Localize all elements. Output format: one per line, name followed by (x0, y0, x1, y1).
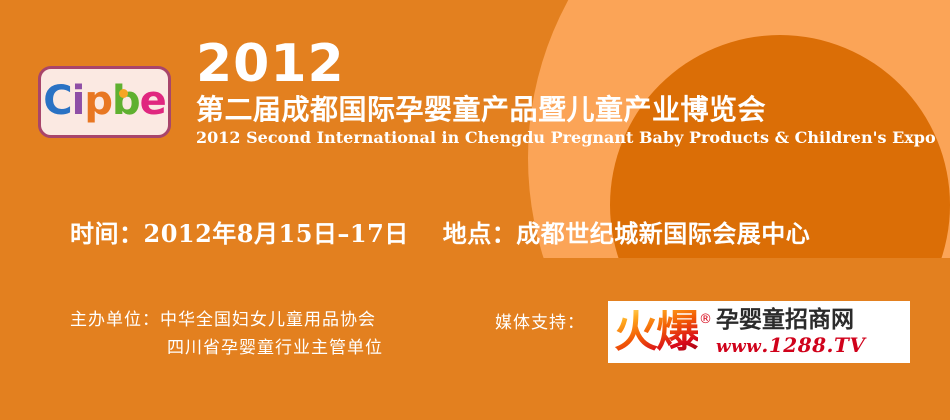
time-value: 2012年8月15日–17日 (144, 219, 409, 248)
organizer-line-1: 中华全国妇女儿童用品协会 (160, 310, 376, 330)
event-year: 2012 (196, 38, 936, 90)
media-partner-logo[interactable]: 火爆 ® 孕婴童招商网 www.1288.TV (608, 301, 910, 363)
registered-trademark-icon: ® (699, 312, 712, 327)
media-url-www: www (716, 337, 761, 357)
flame-mark-wrap: 火爆 ® (614, 310, 712, 354)
logo-dot-accent (119, 89, 128, 98)
cipbe-logo-wordmark: Cipbe (43, 81, 166, 121)
media-logo-chinese: 孕婴童招商网 (716, 308, 865, 332)
organizer-label: 主办单位： (70, 310, 160, 330)
organizer-line-2: 四川省孕婴童行业主管单位 (70, 334, 383, 362)
event-title-english: 2012 Second International in Chengdu Pre… (196, 129, 936, 147)
logo-letter-p: p (84, 81, 112, 121)
event-meta-line: 时间：2012年8月15日–17日地点：成都世纪城新国际会展中心 (70, 214, 810, 249)
header-block: 2012 第二届成都国际孕婴童产品暨儿童产业博览会 2012 Second In… (196, 38, 936, 148)
logo-letter-b: b (112, 81, 140, 121)
logo-letter-c: C (43, 81, 71, 121)
logo-letter-i: i (72, 81, 85, 121)
place-label: 地点： (443, 219, 517, 248)
event-title-chinese: 第二届成都国际孕婴童产品暨儿童产业博览会 (196, 94, 936, 126)
organizer-block: 主办单位：中华全国妇女儿童用品协会 四川省孕婴童行业主管单位 (70, 306, 383, 362)
media-support-label: 媒体支持： (495, 308, 585, 333)
media-url-rest: .1288.TV (761, 333, 865, 357)
cipbe-logo[interactable]: Cipbe (38, 66, 171, 138)
time-label: 时间： (70, 219, 144, 248)
place-value: 成都世纪城新国际会展中心 (516, 219, 810, 248)
media-logo-url[interactable]: www.1288.TV (716, 335, 865, 356)
flame-mark-icon: 火爆 (614, 310, 698, 354)
event-banner: Cipbe 2012 第二届成都国际孕婴童产品暨儿童产业博览会 2012 Sec… (0, 0, 950, 420)
media-logo-text: 孕婴童招商网 www.1288.TV (716, 308, 865, 355)
logo-letter-e: e (140, 81, 166, 121)
